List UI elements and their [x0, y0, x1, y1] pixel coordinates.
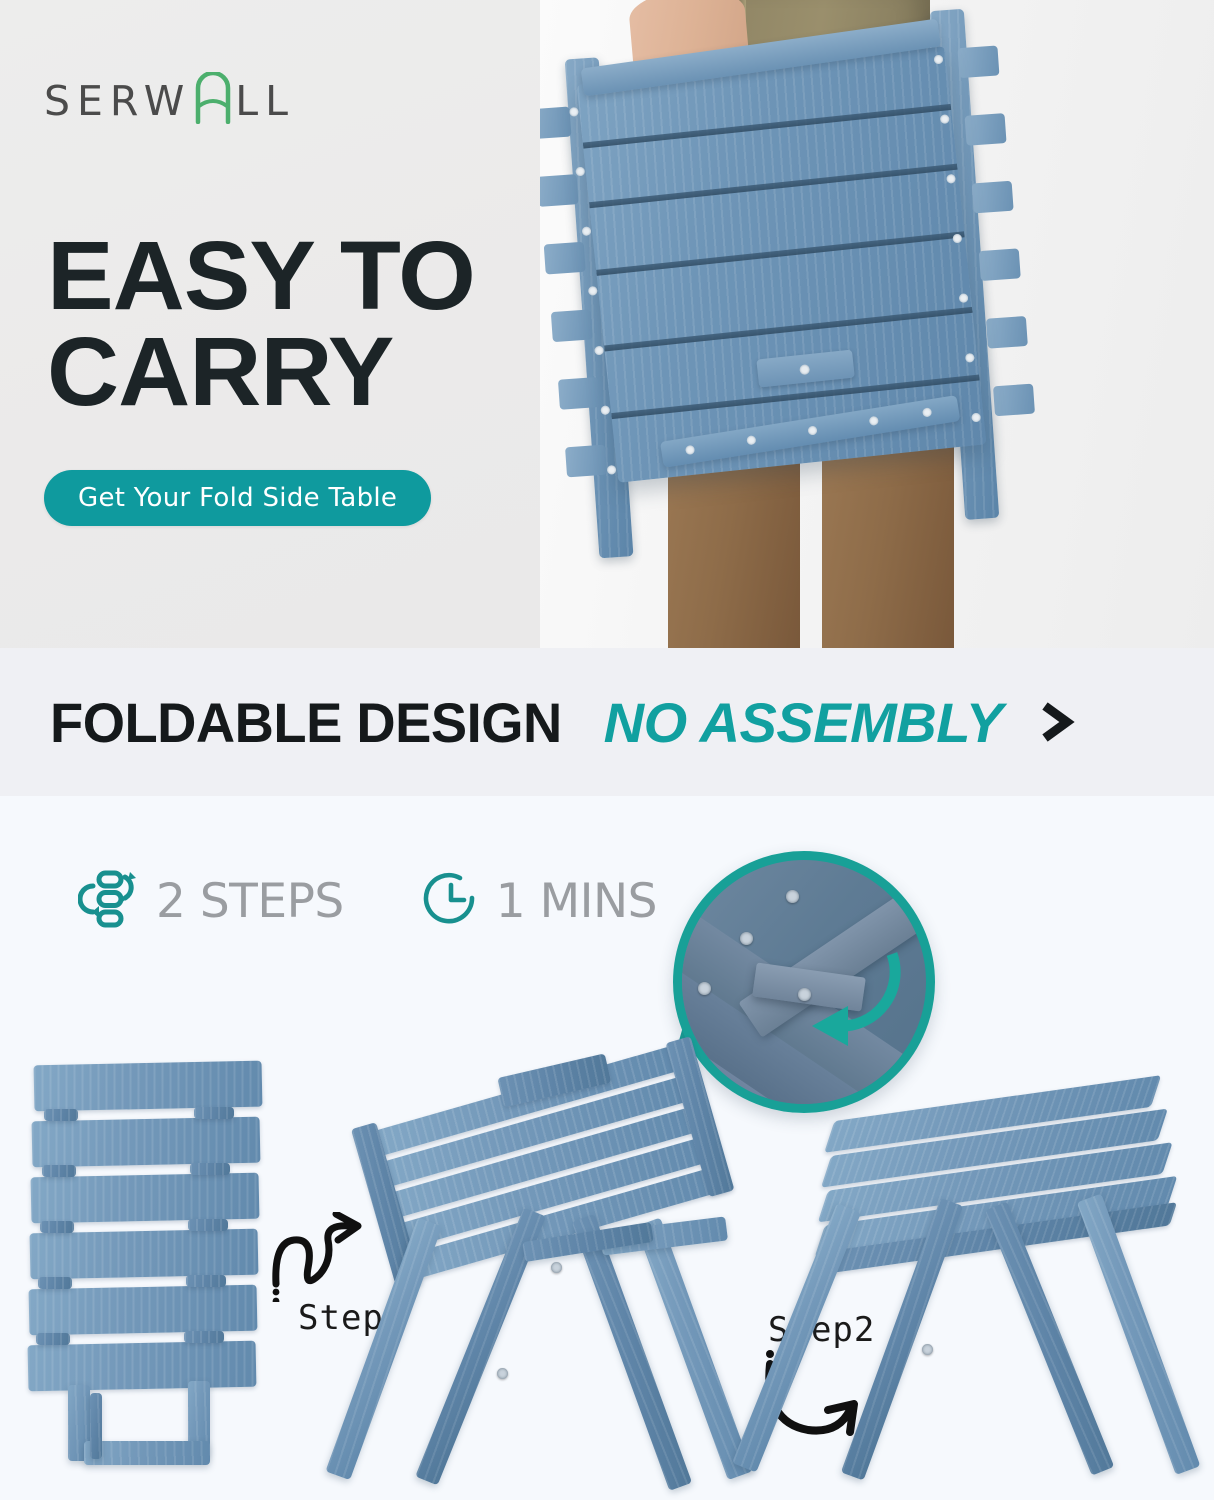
page-title: EASY TO CARRY — [47, 228, 624, 420]
steps-count-item: 2 STEPS — [78, 868, 344, 935]
logo-text-part2: LL — [235, 81, 295, 122]
brand-logo[interactable]: SERW LL — [44, 78, 295, 122]
banner-accent-text: NO ASSEMBLY — [604, 690, 1003, 755]
squiggle-arrow-right-icon — [262, 1212, 392, 1302]
meta-info-row: 2 STEPS 1 MINS — [78, 868, 657, 935]
chair-letter-a-icon — [193, 78, 233, 122]
cta-button[interactable]: Get Your Fold Side Table — [44, 470, 431, 526]
logo-text-part1: SERW — [44, 81, 191, 122]
steps-flow-icon — [78, 868, 140, 935]
assembled-table-image — [808, 1098, 1200, 1488]
cta-button-label: Get Your Fold Side Table — [78, 483, 397, 513]
hero-product-photo — [540, 0, 1214, 648]
headline-line-2: CARRY — [47, 324, 624, 420]
marketing-page: SERW LL EASY TO CARRY Get Your Fold Side… — [0, 0, 1214, 1500]
chevron-right-icon[interactable] — [1037, 698, 1077, 746]
time-estimate-item: 1 MINS — [422, 870, 657, 933]
folded-table-image — [28, 1063, 264, 1423]
foldable-design-banner: FOLDABLE DESIGN NO ASSEMBLY — [0, 648, 1214, 796]
clock-icon — [422, 870, 480, 933]
headline-line-1: EASY TO — [47, 221, 475, 330]
curved-rotate-arrow-icon — [792, 948, 922, 1068]
unfolding-table-image — [375, 1072, 755, 1492]
banner-title: FOLDABLE DESIGN — [50, 690, 562, 755]
hero-section: SERW LL EASY TO CARRY Get Your Fold Side… — [0, 0, 1214, 648]
time-estimate-label: 1 MINS — [496, 874, 657, 929]
steps-count-label: 2 STEPS — [156, 874, 344, 929]
